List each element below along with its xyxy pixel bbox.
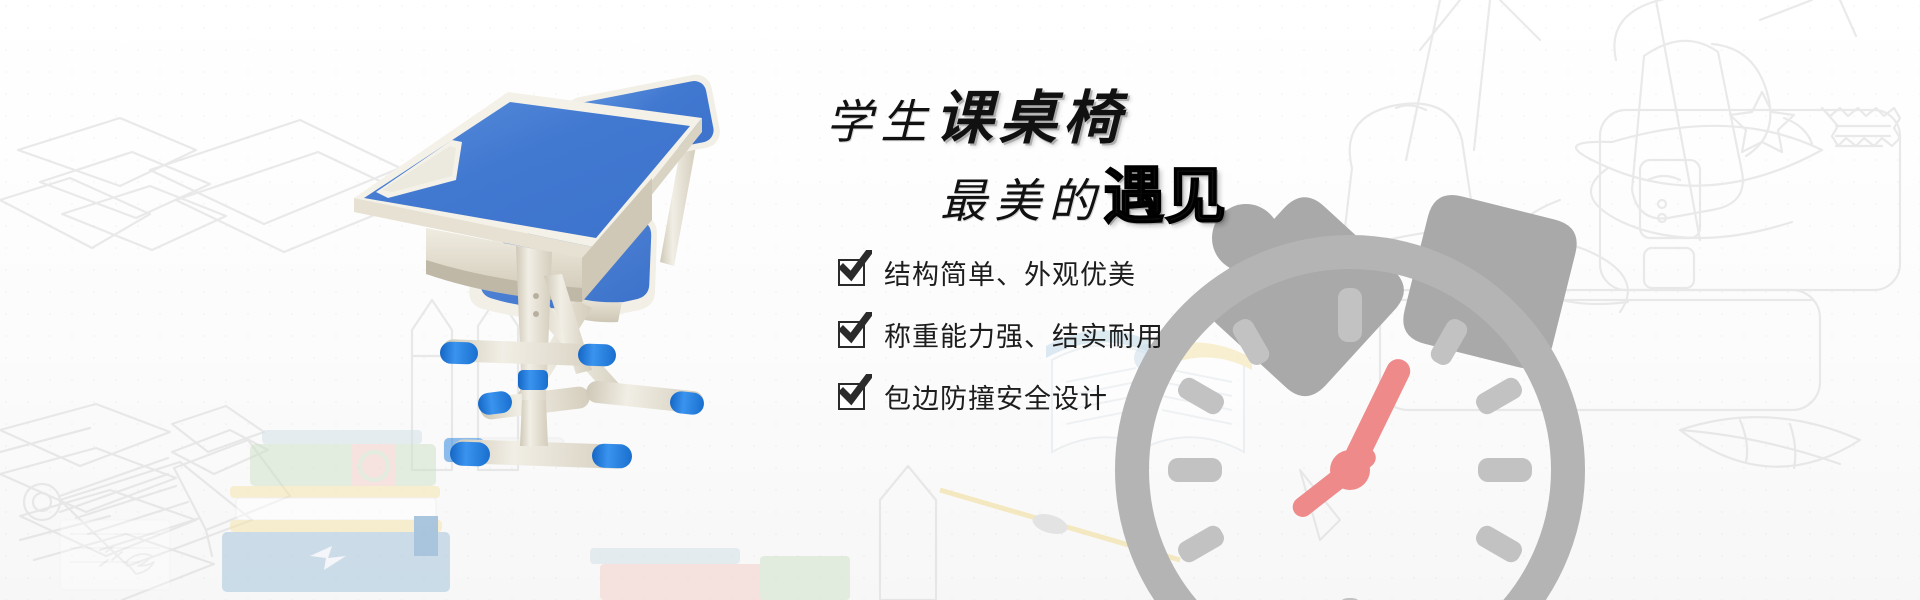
checkbox-check-icon bbox=[838, 259, 865, 286]
headline-block: 学生课桌椅 最美的遇见 bbox=[820, 90, 1300, 227]
headline-line-1-prefix: 学生 bbox=[826, 98, 935, 149]
headline-line-2-emphasis: 遇见 bbox=[1103, 162, 1226, 231]
feature-label: 结构简单、外观优美 bbox=[884, 253, 1136, 292]
feature-label: 包边防撞安全设计 bbox=[884, 377, 1108, 416]
feature-item: 称重能力强、结实耐用 bbox=[838, 312, 1164, 356]
headline-line-2-prefix: 最美的 bbox=[940, 177, 1103, 228]
headline-line-1: 学生课桌椅 bbox=[826, 90, 1300, 148]
headline-line-1-emphasis: 课桌椅 bbox=[935, 86, 1127, 151]
feature-label: 称重能力强、结实耐用 bbox=[884, 315, 1164, 354]
promo-banner: 学生课桌椅 最美的遇见 结构简单、外观优美 称重能力强、结实耐用 包边防撞安全设… bbox=[0, 0, 1920, 600]
headline-line-2: 最美的遇见 bbox=[940, 166, 1300, 227]
student-desk-and-chair-photo bbox=[330, 70, 850, 470]
feature-item: 结构简单、外观优美 bbox=[838, 250, 1164, 294]
feature-list: 结构简单、外观优美 称重能力强、结实耐用 包边防撞安全设计 bbox=[838, 250, 1164, 436]
feature-item: 包边防撞安全设计 bbox=[838, 374, 1164, 418]
checkbox-check-icon bbox=[838, 383, 865, 410]
checkbox-check-icon bbox=[838, 321, 865, 348]
